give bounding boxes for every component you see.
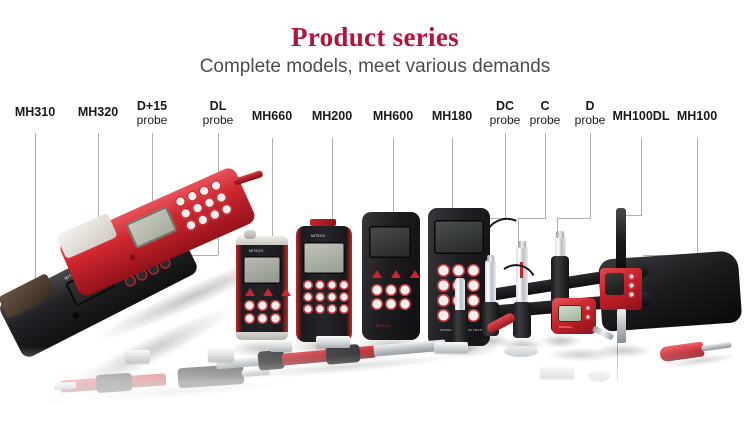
calibration-block-5 — [434, 342, 468, 353]
calibration-block-6 — [540, 366, 574, 379]
mh600-brand: MITECH — [376, 324, 390, 328]
label-mh200: MH200 — [312, 110, 352, 124]
mh660-brand: MITECH — [249, 249, 263, 253]
label-c-probe: Cprobe — [530, 100, 561, 127]
product-c-probe — [508, 246, 536, 350]
label-mh660: MH660 — [252, 110, 292, 124]
probe-support-disc — [504, 346, 538, 357]
label-mh100: MH100 — [677, 110, 717, 124]
page-subtitle: Complete models, meet various demands — [0, 56, 750, 78]
label-mh600: MH600 — [373, 110, 413, 124]
page-title: Product series — [0, 22, 750, 53]
label-mh310: MH310 — [15, 106, 55, 120]
mh100-brand: MITECH — [559, 325, 572, 329]
calibration-block-3 — [270, 340, 292, 352]
calibration-disc — [588, 370, 610, 382]
product-mh200: MITECH — [296, 226, 354, 354]
label-d15-probe: D+15probe — [137, 100, 168, 127]
label-mh180: MH180 — [432, 110, 472, 124]
product-mh100: MITECH — [552, 298, 608, 360]
mh200-brand: MITECH — [311, 234, 325, 238]
product-mh660: MITECH — [236, 236, 290, 354]
label-dl-probe: DLprobe — [203, 100, 234, 127]
product-photo-stage: MITECH — [0, 150, 750, 433]
calibration-block-4 — [316, 336, 350, 348]
calibration-block-1 — [126, 350, 150, 363]
product-series-banner: Product series Complete models, meet var… — [0, 0, 750, 433]
label-dc-probe: DCprobe — [490, 100, 521, 127]
calibration-block-2 — [208, 348, 234, 362]
product-mh600: MITECH — [362, 212, 422, 352]
label-mh100dl: MH100DL — [613, 110, 670, 124]
label-mh320: MH320 — [78, 106, 118, 120]
label-d-probe: Dprobe — [575, 100, 606, 127]
accessory-screwdriver — [659, 335, 739, 368]
